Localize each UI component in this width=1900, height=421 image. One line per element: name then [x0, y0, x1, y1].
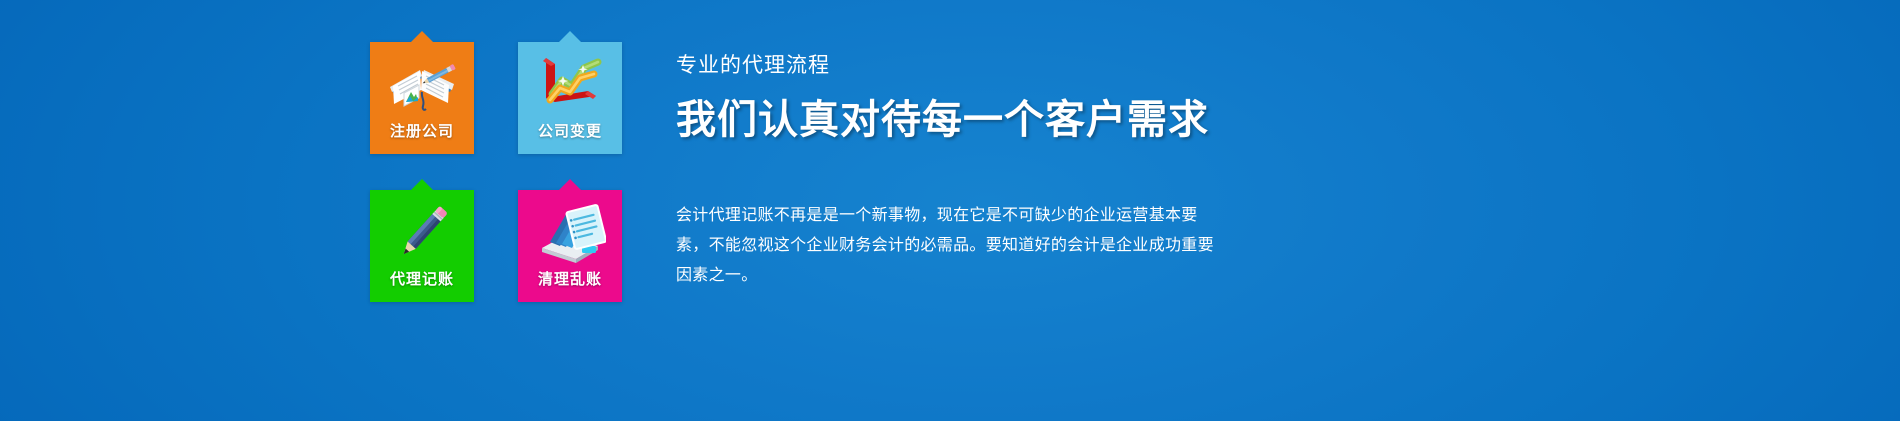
tile-pointer-icon — [411, 179, 433, 190]
promo-banner: 注册公司 — [0, 0, 1900, 421]
service-tile-bookkeeping[interactable]: 代理记账 — [370, 190, 474, 302]
service-tile-label: 清理乱账 — [518, 270, 622, 288]
service-tile-register-company[interactable]: 注册公司 — [370, 42, 474, 154]
service-tile-cleanup-accounts[interactable]: 清理乱账 — [518, 190, 622, 302]
service-tile-label: 公司变更 — [518, 122, 622, 140]
service-tile-company-change[interactable]: 公司变更 — [518, 42, 622, 154]
tile-pointer-icon — [411, 31, 433, 42]
service-tile-label: 代理记账 — [370, 270, 474, 288]
stacked-documents-icon — [518, 196, 622, 270]
tile-pointer-icon — [559, 31, 581, 42]
promo-headline: 我们认真对待每一个客户需求 — [676, 96, 1676, 144]
pencil-icon — [370, 196, 474, 270]
promo-copy-block: 专业的代理流程 我们认真对待每一个客户需求 会计代理记账不再是是一个新事物，现在… — [676, 50, 1676, 290]
tile-pointer-icon — [559, 179, 581, 190]
open-book-pencil-icon — [370, 48, 474, 122]
promo-body-text: 会计代理记账不再是是一个新事物，现在它是不可缺少的企业运营基本要素，不能忽视这个… — [676, 200, 1221, 290]
service-tile-label: 注册公司 — [370, 122, 474, 140]
promo-eyebrow: 专业的代理流程 — [676, 50, 1676, 80]
service-tile-grid: 注册公司 — [370, 42, 630, 342]
line-chart-icon — [518, 48, 622, 122]
